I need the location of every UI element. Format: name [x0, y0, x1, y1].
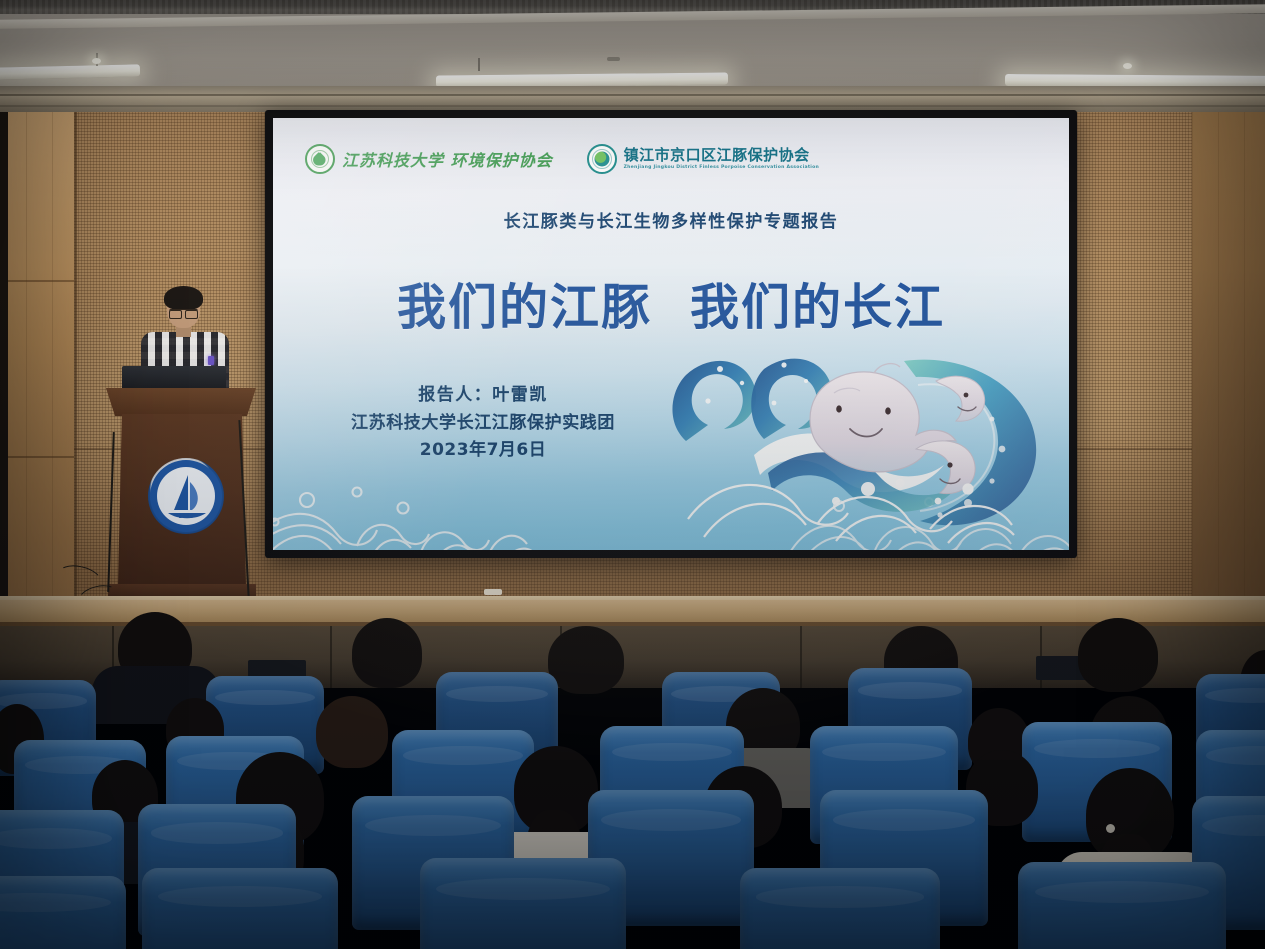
podium-top-surface [106, 388, 256, 416]
finless-porpoise-illustration [668, 323, 1058, 550]
slide-subtitle: 长江豚类与长江生物多样性保护专题报告 [273, 207, 1069, 232]
logo-label-green: 江苏科技大学 环境保护协会 [342, 147, 553, 171]
seat-front-2 [142, 868, 338, 949]
light-stem-2 [478, 58, 480, 71]
audience-area [0, 600, 1265, 949]
side-wall-seam [0, 280, 74, 282]
soffit-line-b [0, 105, 1265, 107]
wall-seam-left [74, 112, 77, 624]
audience-head-far-5 [1078, 618, 1158, 692]
seat-front-1 [0, 876, 126, 949]
ceiling-light-1 [0, 64, 140, 79]
logo-label-teal-en: Zhenjiang Jingkou District Finless Porpo… [624, 166, 819, 171]
heart-in-circle-green-logo-icon [305, 144, 335, 174]
side-wall-wood-panel-right-fix [1192, 112, 1265, 624]
porpoise-leaf-circle-teal-logo-icon [587, 144, 617, 174]
seat-front-3 [420, 858, 626, 949]
stage-small-object [484, 589, 502, 595]
logo-label-teal-zh: 镇江市京口区江豚保护协会 [624, 148, 819, 163]
seat-front-5 [1018, 862, 1226, 949]
decorative-wave-lineart-left [273, 434, 583, 550]
presenter-hair [164, 286, 203, 310]
audience-head-far-2 [352, 618, 422, 688]
logo-just-environmental-association: 江苏科技大学 环境保护协会 [305, 144, 553, 174]
crest-year: 1933 [178, 513, 193, 520]
presentation-slide: 江苏科技大学 环境保护协会 镇江市京口区江豚保护协会 Zhenjiang Jin… [273, 118, 1069, 550]
side-wall-seam-2 [0, 456, 74, 458]
light-cap-2 [607, 57, 620, 61]
ceiling-spot-1 [92, 58, 101, 64]
audience-head-b2 [316, 696, 388, 768]
presenter-glasses [169, 309, 198, 316]
university-crest-emblem: 1933 [148, 458, 224, 534]
side-wall-wood-panel [0, 112, 74, 624]
audience-head-far-3 [548, 626, 624, 694]
soffit-line-a [0, 94, 1265, 96]
wall-recess-left [0, 112, 8, 624]
slide-presenter-org: 江苏科技大学长江江豚保护实践团 [293, 410, 673, 438]
lecture-hall-scene: 江苏科技大学 环境保护协会 镇江市京口区江豚保护协会 Zhenjiang Jin… [0, 0, 1265, 949]
ceiling-spot-3 [1123, 63, 1132, 69]
presenter-badge-light [208, 356, 214, 365]
projection-screen[interactable]: 江苏科技大学 环境保护协会 镇江市京口区江豚保护协会 Zhenjiang Jin… [265, 110, 1077, 558]
slide-presenter-name: 报告人：叶雷凯 [293, 382, 673, 410]
slide-logo-row: 江苏科技大学 环境保护协会 镇江市京口区江豚保护协会 Zhenjiang Jin… [305, 144, 819, 174]
ceiling [0, 0, 1265, 98]
seat-front-4 [740, 868, 940, 949]
hair-tie-c5 [1106, 824, 1115, 833]
logo-porpoise-conservation-association: 镇江市京口区江豚保护协会 Zhenjiang Jingkou District … [587, 144, 819, 174]
logo-teal-text-wrap: 镇江市京口区江豚保护协会 Zhenjiang Jingkou District … [624, 148, 819, 171]
sailboat-crest-icon: 1933 [148, 458, 224, 534]
